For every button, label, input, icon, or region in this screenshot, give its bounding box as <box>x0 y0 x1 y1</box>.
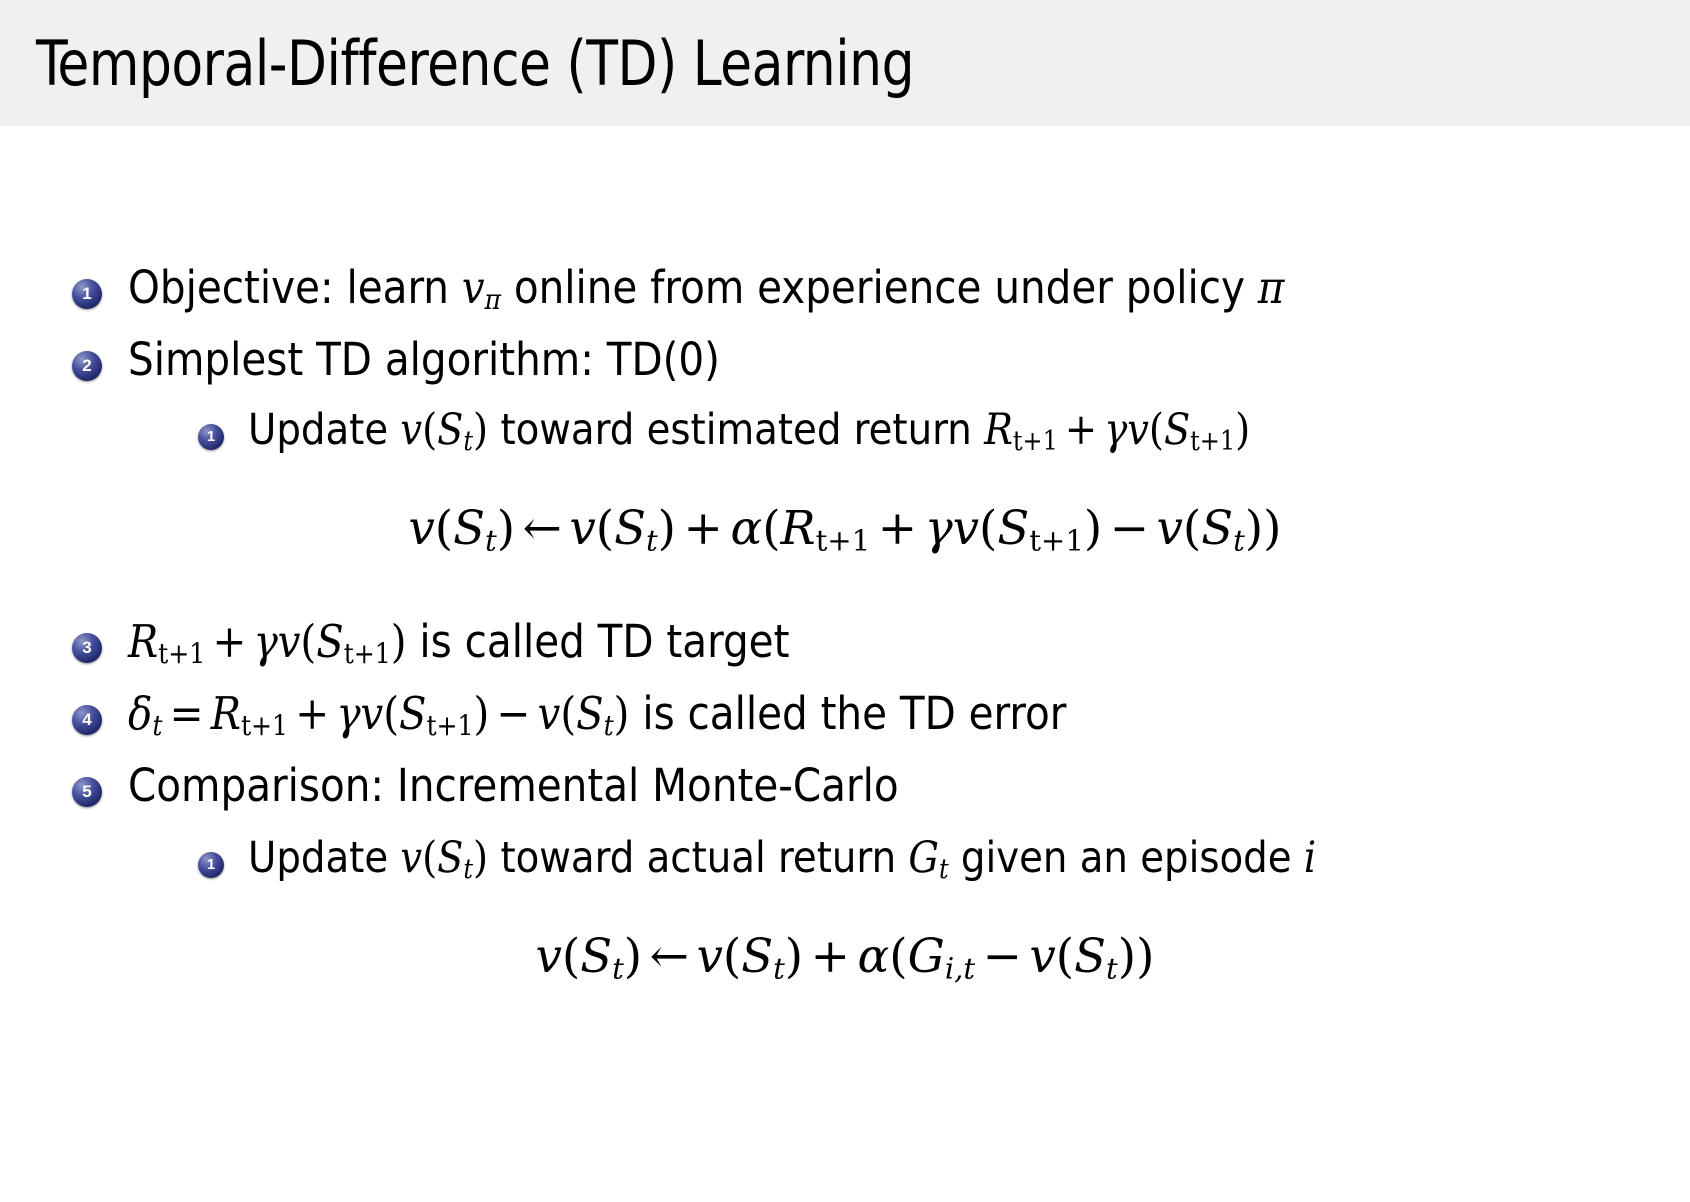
math-sub-t: t <box>485 523 497 557</box>
sub-text: t+1 <box>344 637 391 670</box>
math-operator-minus: − <box>489 687 537 740</box>
math-var-S: S <box>437 833 463 883</box>
math-operator-plus: + <box>803 929 857 984</box>
bullet-marker-sub-2: 1 <box>198 852 224 878</box>
math-paren: ) <box>1235 405 1250 455</box>
math-var-v: v <box>1030 929 1056 983</box>
math-sub-t-plus-1: t+1 <box>241 709 288 742</box>
math-sub-i-t: i,t <box>945 951 975 985</box>
math-var-S: S <box>741 929 773 983</box>
math-var-S: S <box>399 688 426 740</box>
text-fragment: toward actual return <box>488 833 908 883</box>
math-var-v: v <box>408 501 434 555</box>
math-operator-minus: − <box>975 929 1029 984</box>
bullet-marker-1: 1 <box>72 279 102 309</box>
math-var-v: v <box>400 405 422 455</box>
math-var-v: v <box>538 688 561 740</box>
list-item-4: 4 δt=Rt+1+γv(St+1)−v(St) is called the T… <box>72 688 1066 752</box>
text-fragment: toward estimated return <box>488 405 984 455</box>
text-fragment: is called TD target <box>407 615 790 668</box>
math-sub-t: t <box>1233 523 1245 557</box>
sub-text: t+1 <box>241 709 288 742</box>
math-var-v: v <box>462 262 485 314</box>
text-fragment: online from experience under policy <box>501 261 1258 314</box>
math-gamma: γ <box>1104 405 1127 455</box>
math-sub-t: t <box>463 854 473 885</box>
math-arrow-left: ← <box>515 501 569 556</box>
math-operator-plus: + <box>288 687 336 740</box>
display-equation-td-update: v(St)←v(St)+α(Rt+1+γv(St+1)−v(St)) <box>0 500 1690 568</box>
list-item-2-sub-1-text: Update v(St) toward estimated return Rt+… <box>248 404 1250 468</box>
bullet-marker-3: 3 <box>72 633 102 663</box>
math-var-v: v <box>569 501 595 555</box>
list-item-5-sub-1: 1 Update v(St) toward actual return Gt g… <box>198 832 1316 896</box>
math-sub-t-plus-1: t+1 <box>1013 426 1058 457</box>
math-var-S: S <box>1164 405 1190 455</box>
math-var-R: R <box>984 405 1013 455</box>
math-sub-t-plus-1: t+1 <box>344 637 391 670</box>
math-sub-t: t <box>152 709 162 742</box>
math-var-v: v <box>361 688 384 740</box>
math-gamma: γ <box>336 687 360 740</box>
math-var-S: S <box>1201 501 1233 555</box>
math-paren: ) <box>473 405 488 455</box>
math-var-S: S <box>614 501 646 555</box>
list-item-3-text: Rt+1+γv(St+1) is called TD target <box>128 616 789 680</box>
math-var-S: S <box>316 616 343 668</box>
math-var-v: v <box>536 929 562 983</box>
bullet-marker-4: 4 <box>72 705 102 735</box>
sub-text: t+1 <box>1190 426 1235 457</box>
sub-text: t+1 <box>1029 523 1084 557</box>
math-alpha: α <box>858 929 890 984</box>
math-sub-t-plus-1: t+1 <box>426 709 473 742</box>
math-paren: ( <box>422 405 437 455</box>
sub-text: t+1 <box>158 637 205 670</box>
math-gamma: γ <box>925 501 953 556</box>
math-sub-t-plus-1: t+1 <box>158 637 205 670</box>
list-item-5: 5 Comparison: Incremental Monte-Carlo <box>72 760 899 812</box>
list-item-2: 2 Simplest TD algorithm: TD(0) <box>72 334 720 386</box>
math-var-v: v <box>1157 501 1183 555</box>
math-operator-plus: + <box>870 501 924 556</box>
bullet-marker-5: 5 <box>72 777 102 807</box>
math-var-S: S <box>437 405 463 455</box>
math-sub-t-plus-1: t+1 <box>816 523 871 557</box>
math-delta: δ <box>128 687 152 740</box>
slide-body: 1 Objective: learn vπ online from experi… <box>0 126 1690 1202</box>
math-gamma: γ <box>254 615 278 668</box>
math-var-S: S <box>580 929 612 983</box>
text-fragment: Update <box>248 405 400 455</box>
sub-text: t+1 <box>426 709 473 742</box>
math-var-v: v <box>953 501 979 555</box>
math-paren: ( <box>1149 405 1164 455</box>
list-item-4-text: δt=Rt+1+γv(St+1)−v(St) is called the TD … <box>128 688 1066 752</box>
math-var-R: R <box>781 501 816 555</box>
list-item-2-text: Simplest TD algorithm: TD(0) <box>128 334 720 386</box>
math-sub-t: t <box>646 523 658 557</box>
math-var-G: G <box>908 929 945 983</box>
math-operator-plus: + <box>205 615 253 668</box>
list-item-5-sub-1-text: Update v(St) toward actual return Gt giv… <box>248 832 1316 896</box>
math-sub-pi: π <box>484 283 501 316</box>
math-var-v: v <box>1127 405 1149 455</box>
page-title: Temporal-Difference (TD) Learning <box>36 16 914 112</box>
slide-title-bar: Temporal-Difference (TD) Learning <box>0 0 1690 126</box>
list-item-2-sub-1: 1 Update v(St) toward estimated return R… <box>198 404 1250 468</box>
math-sub-t: t <box>612 951 624 985</box>
math-operator-plus: + <box>1058 405 1104 455</box>
sub-text: t+1 <box>816 523 871 557</box>
list-item-1-text: Objective: learn vπ online from experien… <box>128 262 1284 326</box>
math-sub-t: t <box>463 426 473 457</box>
bullet-marker-2: 2 <box>72 351 102 381</box>
list-item-5-text: Comparison: Incremental Monte-Carlo <box>128 760 899 812</box>
text-fragment: given an episode <box>949 833 1304 883</box>
math-var-i: i <box>1304 833 1316 883</box>
text-fragment: Objective: learn <box>128 261 462 314</box>
math-sub-t: t <box>1106 951 1118 985</box>
math-var-S: S <box>453 501 485 555</box>
math-var-S: S <box>997 501 1029 555</box>
text-fragment: Update <box>248 833 400 883</box>
math-var-v: v <box>697 929 723 983</box>
math-operator-plus: + <box>676 501 730 556</box>
math-operator-equals: = <box>162 687 210 740</box>
list-item-3: 3 Rt+1+γv(St+1) is called TD target <box>72 616 789 680</box>
math-alpha: α <box>730 501 762 556</box>
display-equation-mc-update: v(St)←v(St)+α(Gi,t−v(St)) <box>0 928 1690 996</box>
math-var-S: S <box>576 688 603 740</box>
sub-text: t+1 <box>1013 426 1058 457</box>
math-sub-t: t <box>604 709 614 742</box>
math-var-R: R <box>211 688 241 740</box>
math-sub-t: t <box>939 854 949 885</box>
math-pi: π <box>1258 261 1285 314</box>
math-var-v: v <box>400 833 422 883</box>
math-var-G: G <box>908 833 939 883</box>
list-item-1: 1 Objective: learn vπ online from experi… <box>72 262 1284 326</box>
math-arrow-left: ← <box>642 929 696 984</box>
text-fragment: is called the TD error <box>629 687 1066 740</box>
math-var-S: S <box>1074 929 1106 983</box>
math-sub-t-plus-1: t+1 <box>1029 523 1084 557</box>
bullet-marker-sub-1: 1 <box>198 424 224 450</box>
math-var-R: R <box>128 616 158 668</box>
math-sub-t: t <box>773 951 785 985</box>
math-var-v: v <box>278 616 301 668</box>
math-sub-t-plus-1: t+1 <box>1190 426 1235 457</box>
math-operator-minus: − <box>1102 501 1156 556</box>
